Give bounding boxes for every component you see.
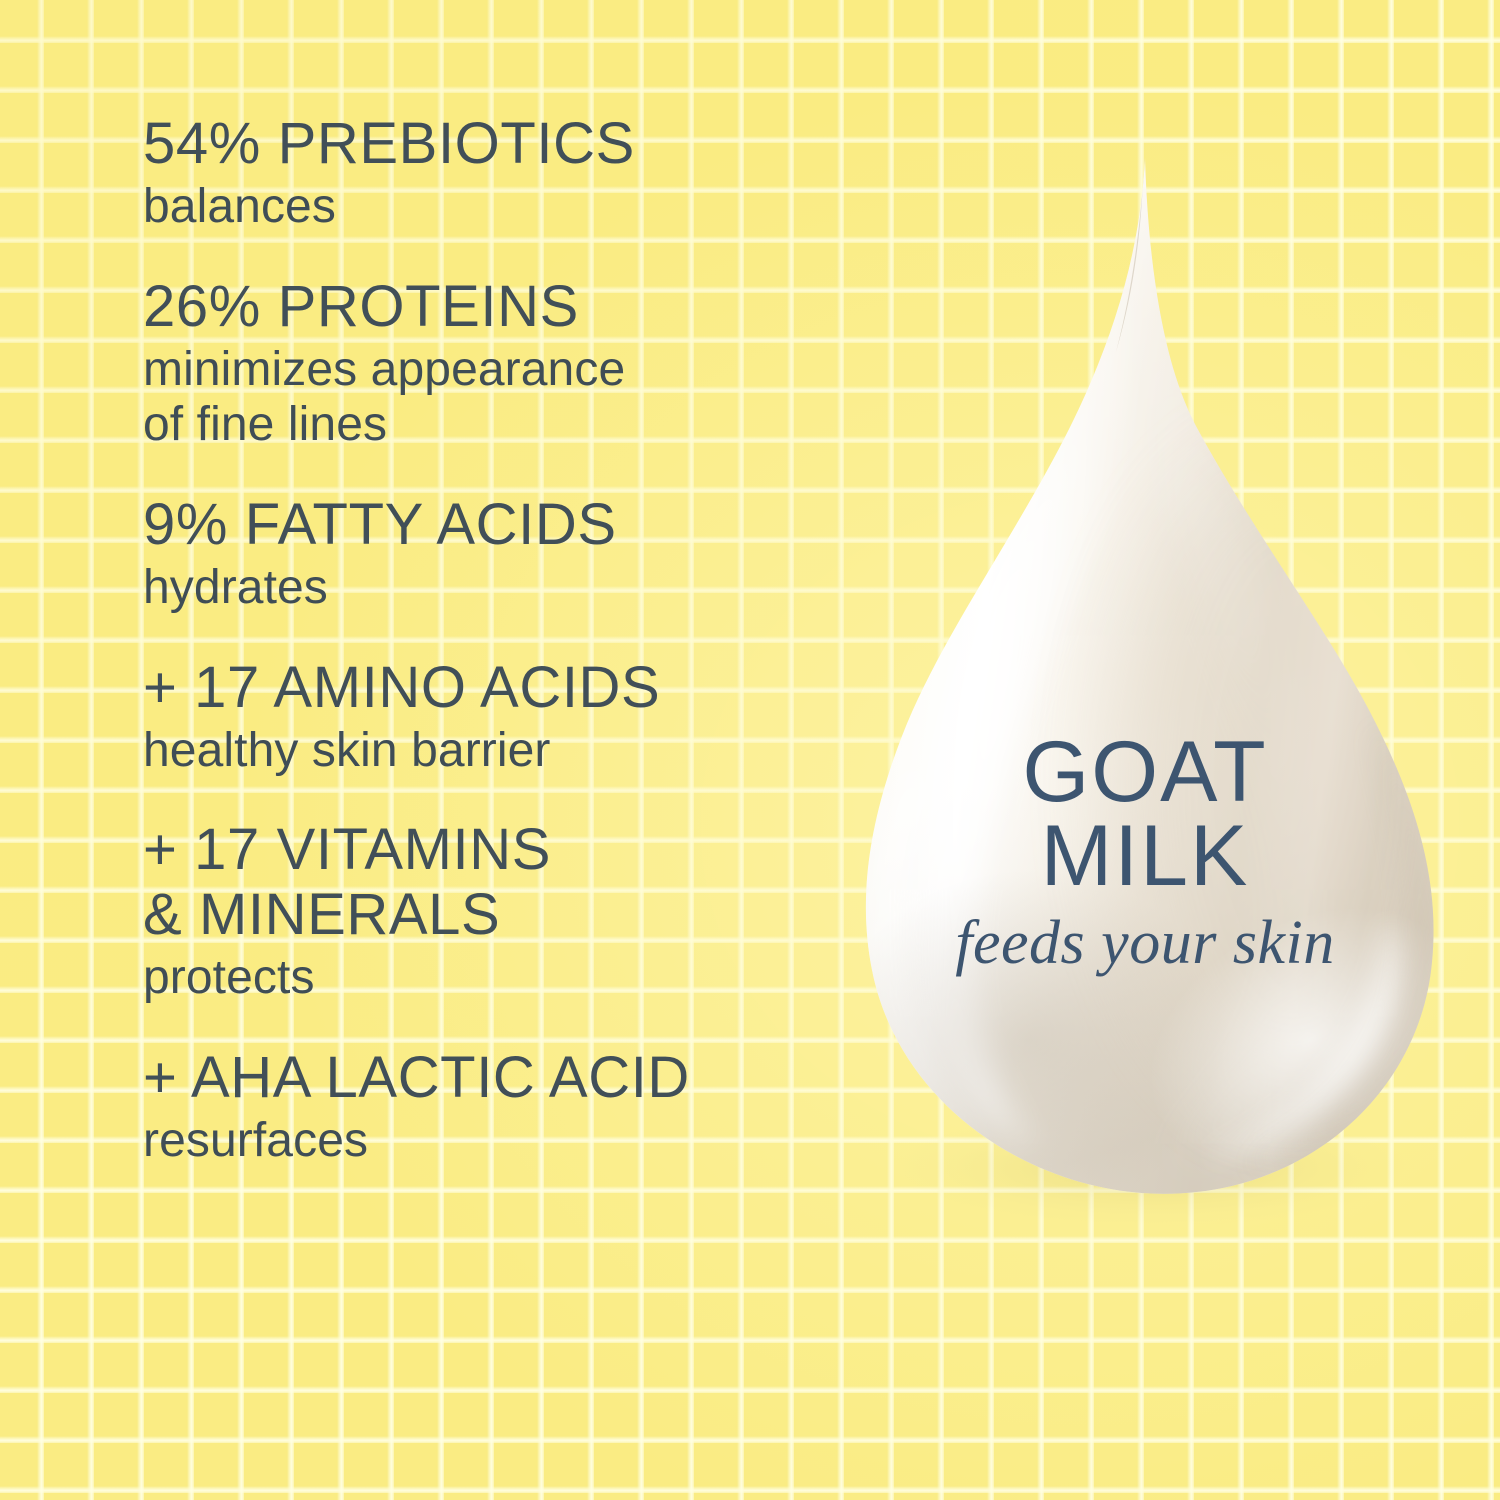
product-infographic: 54% PREBIOTICS balances 26% PROTEINS min… [0,0,1500,1500]
droplet-icon [840,140,1450,1215]
ingredient-item-fatty-acids: 9% FATTY ACIDS hydrates [143,493,843,616]
ingredient-headline: 54% PREBIOTICS [143,112,843,177]
ingredient-item-proteins: 26% PROTEINS minimizes appearance of fin… [143,275,843,453]
ingredient-item-aha-lactic-acid: + AHA LACTIC ACID resurfaces [143,1046,843,1169]
ingredient-benefit: protects [143,950,843,1006]
ingredient-benefit: healthy skin barrier [143,723,843,779]
ingredient-headline: + AHA LACTIC ACID [143,1046,843,1111]
ingredient-headline: 9% FATTY ACIDS [143,493,843,558]
ingredient-benefit: minimizes appearance of fine lines [143,342,843,453]
ingredient-benefit: balances [143,179,843,235]
ingredient-headline: + 17 AMINO ACIDS [143,656,843,721]
ingredient-item-prebiotics: 54% PREBIOTICS balances [143,112,843,235]
ingredient-headline: + 17 VITAMINS & MINERALS [143,818,843,948]
droplet-shading-group [830,156,1500,1226]
ingredient-item-vitamins-minerals: + 17 VITAMINS & MINERALS protects [143,818,843,1006]
ingredient-item-amino-acids: + 17 AMINO ACIDS healthy skin barrier [143,656,843,779]
ingredient-benefit: resurfaces [143,1113,843,1169]
ingredient-benefit: hydrates [143,560,843,616]
ingredient-headline: 26% PROTEINS [143,275,843,340]
ingredient-list: 54% PREBIOTICS balances 26% PROTEINS min… [143,112,843,1208]
milk-droplet-graphic [840,140,1450,1215]
